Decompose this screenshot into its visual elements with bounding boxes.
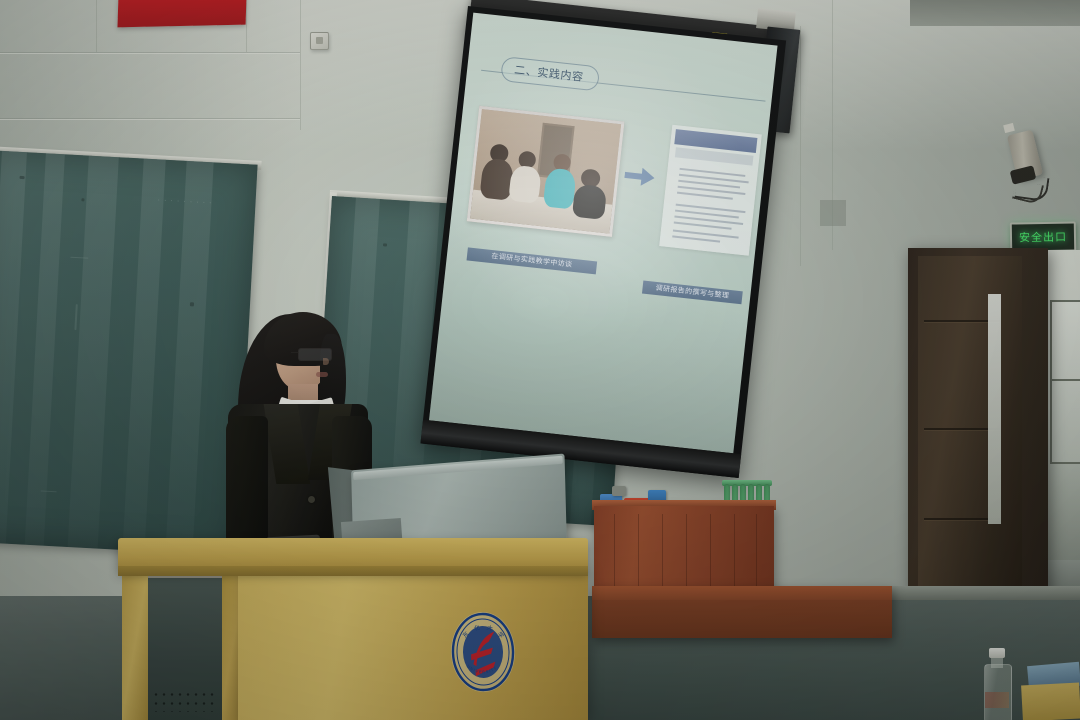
university-emblem: 东 北 大 学 UNIVERSITY — [441, 607, 524, 698]
entry-door[interactable] — [918, 256, 1022, 596]
wall-seam-highlight — [0, 119, 300, 120]
chalk-writing: · · · · · · · · · — [157, 197, 212, 208]
podium-leg-left — [122, 570, 148, 720]
corridor-window — [1050, 300, 1080, 464]
projection-screen: 二、实践内容 — [420, 6, 786, 478]
slide-arrow-icon — [624, 166, 656, 187]
wooden-platform-edge — [592, 586, 892, 600]
wall-panel-edge — [246, 0, 247, 52]
wooden-cabinet — [594, 506, 774, 598]
wall-panel-edge — [96, 0, 97, 52]
slide-photo — [467, 106, 625, 237]
blazer-button — [308, 496, 315, 503]
wall-switch[interactable] — [310, 32, 329, 50]
slide-document-screenshot — [659, 125, 762, 256]
exit-sign-label: 安全出口 — [1019, 229, 1067, 246]
classroom-photo-scene: · · · · · · · · · 二、实践内容 — [0, 0, 1080, 720]
blackboard-left: · · · · · · · · · — [0, 150, 258, 556]
ceiling-strip — [910, 0, 1080, 26]
foreground-desk-edge — [1021, 683, 1080, 720]
presenter-arm-left — [226, 416, 268, 556]
bottle-label — [985, 692, 1009, 708]
bottle-cap — [989, 648, 1005, 658]
slide-content: 二、实践内容 — [429, 13, 777, 454]
podium-desktop-edge — [118, 566, 588, 576]
presenter-nose — [323, 358, 329, 365]
wall-junction-box — [820, 200, 846, 226]
wall-seam-highlight — [0, 53, 300, 54]
podium-body — [238, 570, 588, 720]
slide-caption-left: 在调研与实践教学中访谈 — [467, 247, 598, 274]
slide-caption-right: 调研报告的撰写与整理 — [642, 281, 743, 305]
grey-box — [612, 486, 626, 496]
podium-vent-holes — [152, 690, 218, 712]
door-glass-panel — [988, 294, 1001, 524]
screen-surface: 二、实践内容 — [429, 13, 777, 454]
slide-title: 二、实践内容 — [500, 56, 600, 91]
wall-panel-edge — [300, 0, 301, 130]
presenter-mouth — [316, 372, 328, 377]
wall-panel-edge — [800, 26, 801, 266]
red-banner — [117, 0, 246, 27]
water-bottle[interactable] — [984, 648, 1010, 720]
